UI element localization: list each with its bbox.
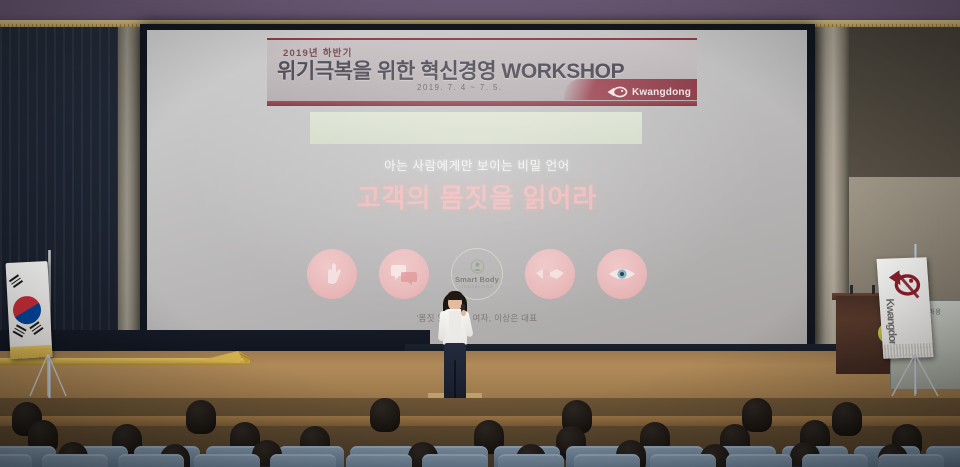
hand-gesture-icon bbox=[307, 249, 357, 299]
handshake-icon bbox=[525, 249, 575, 299]
audience-seat bbox=[0, 454, 32, 467]
banner-title: 위기극복을 위한 혁신경영 WORKSHOP bbox=[277, 55, 624, 85]
presenter bbox=[432, 288, 478, 416]
audience-seat bbox=[42, 454, 108, 467]
presenter-shirt bbox=[449, 311, 461, 341]
sponsor-logo-text: Kwangdong bbox=[632, 87, 691, 98]
kwangdong-fish-mark-icon bbox=[886, 267, 922, 302]
right-flag-stand bbox=[888, 354, 942, 398]
audience-seat bbox=[878, 454, 944, 467]
slide-headline: 고객의 몸짓을 읽어라 bbox=[147, 178, 807, 215]
audience-seat bbox=[346, 454, 412, 467]
badge-label: Smart Body bbox=[455, 275, 499, 284]
eye-glyph bbox=[608, 265, 636, 283]
presenter-hair-front bbox=[447, 291, 463, 300]
presenter-leg-gap bbox=[454, 360, 456, 400]
audience-seat bbox=[650, 454, 716, 467]
audience-seat bbox=[118, 454, 184, 467]
audience-seat bbox=[422, 454, 488, 467]
banner-date: 2019. 7. 4 ~ 7. 5. bbox=[417, 83, 502, 92]
banner-baseline bbox=[267, 101, 697, 106]
handshake-glyph bbox=[535, 265, 565, 283]
auditorium-scene: 2019년 하반기 위기극복을 위한 혁신경영 WORKSHOP 2019. 7… bbox=[0, 0, 960, 467]
slide-subtitle: 아는 사람에게만 보이는 비밀 언어 bbox=[147, 155, 807, 174]
speech-bubble-glyph bbox=[390, 262, 418, 286]
audience-seat bbox=[726, 454, 792, 467]
taegukgi bbox=[6, 261, 53, 359]
lectern-mic-left-icon bbox=[850, 285, 853, 294]
audience-seat bbox=[270, 454, 336, 467]
slide-green-box bbox=[310, 112, 642, 144]
banner-kicker: 2019년 하반기 bbox=[283, 45, 353, 59]
hand-gesture-glyph bbox=[319, 261, 345, 287]
trigram-geon-icon bbox=[9, 274, 23, 288]
ceiling-valance bbox=[0, 0, 960, 22]
lectern-mic-right-icon bbox=[872, 285, 875, 294]
south-korea-flag bbox=[8, 262, 54, 380]
company-flag-cloth: Kwangdong bbox=[877, 257, 934, 359]
audience-area bbox=[0, 398, 960, 467]
banner-logo-plate bbox=[564, 79, 697, 100]
event-banner: 2019년 하반기 위기극복을 위한 혁신경영 WORKSHOP 2019. 7… bbox=[267, 38, 697, 106]
speech-bubble-icon bbox=[379, 249, 429, 299]
kwangdong-company-flag: Kwangdong bbox=[880, 258, 934, 378]
audience-seat bbox=[574, 454, 640, 467]
audience-seat bbox=[498, 454, 564, 467]
fish-mark-icon bbox=[606, 86, 628, 98]
presenter-hand bbox=[461, 310, 466, 316]
left-flag-stand bbox=[24, 354, 70, 398]
trigram-gam-icon bbox=[13, 324, 27, 337]
audience-seat bbox=[802, 454, 868, 467]
eye-icon bbox=[597, 249, 647, 299]
badge-emblem-glyph bbox=[470, 259, 485, 274]
audience-seat bbox=[194, 454, 260, 467]
side-wall-upper-shadow bbox=[847, 27, 960, 177]
audience-row-front bbox=[0, 442, 960, 467]
gold-ladder-prop bbox=[196, 343, 256, 367]
sponsor-logo: Kwangdong bbox=[606, 86, 691, 98]
